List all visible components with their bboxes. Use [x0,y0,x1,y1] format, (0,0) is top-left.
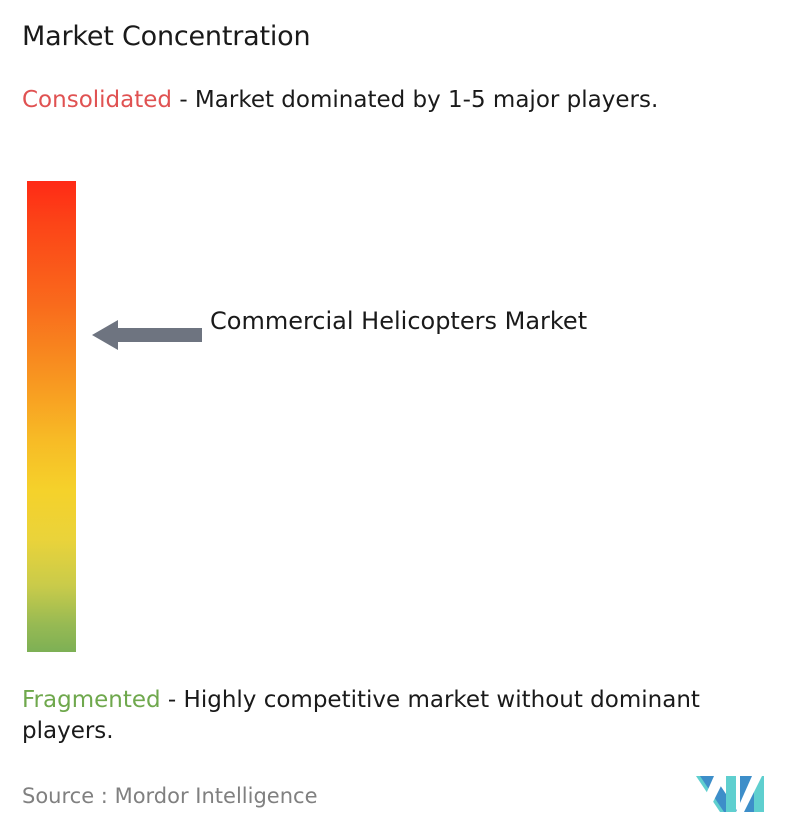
market-concentration-gradient-bar [27,181,76,652]
arrow-left-svg [92,318,202,352]
legend-term-consolidated: Consolidated [22,87,172,113]
mordor-intelligence-logo [696,770,768,818]
source-value: Mordor Intelligence [115,784,318,808]
legend-consolidated: Consolidated - Market dominated by 1-5 m… [22,85,764,116]
arrow-shape [92,320,202,350]
page-title: Market Concentration [22,20,310,54]
logo-stroke-3 [726,776,736,812]
legend-term-fragmented: Fragmented [22,687,161,713]
legend-fragmented: Fragmented - Highly competitive market w… [22,685,782,747]
source-attribution: Source : Mordor Intelligence [22,782,317,810]
source-label: Source : [22,784,108,808]
marker-label: Commercial Helicopters Market [210,304,610,338]
mi-monogram-svg [696,770,768,818]
legend-description-consolidated: - Market dominated by 1-5 major players. [172,87,658,113]
marker-arrow-left-icon [92,318,202,352]
